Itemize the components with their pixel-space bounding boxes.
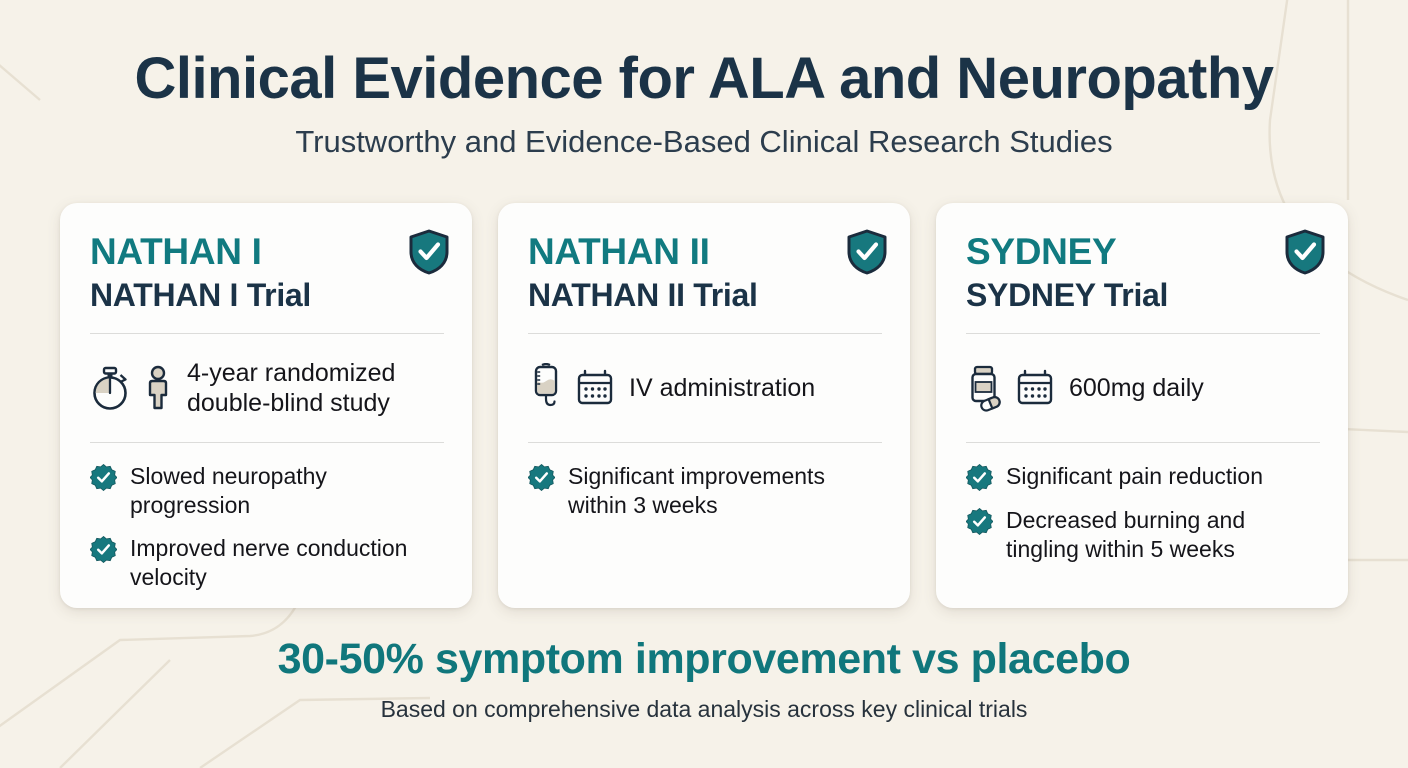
trial-card-nathan-ii[interactable]: NATHAN II NATHAN II Trial <box>498 203 910 608</box>
card-meta: 4-year randomized double-blind study <box>90 334 444 425</box>
trial-card-sydney[interactable]: SYDNEY SYDNEY Trial <box>936 203 1348 608</box>
card-eyebrow: NATHAN II <box>528 233 882 271</box>
shield-check-icon <box>408 229 450 275</box>
page-title: Clinical Evidence for ALA and Neuropathy <box>0 48 1408 109</box>
footer: 30-50% symptom improvement vs placebo Ba… <box>0 636 1408 724</box>
bullet-item: Slowed neuropathy progression <box>90 462 444 519</box>
check-badge-icon <box>966 508 993 535</box>
footer-subtext: Based on comprehensive data analysis acr… <box>0 696 1408 724</box>
card-meta: 600mg daily <box>966 334 1320 425</box>
meta-text: IV administration <box>629 373 815 404</box>
footer-headline: 30-50% symptom improvement vs placebo <box>0 636 1408 683</box>
check-badge-icon <box>90 536 117 563</box>
bullet-item: Improved nerve conduction velocity <box>90 534 444 591</box>
bullet-item: Significant pain reduction <box>966 462 1320 491</box>
card-meta: IV administration <box>528 334 882 425</box>
meta-text: 600mg daily <box>1069 373 1204 404</box>
bullet-text: Decreased burning and tingling within 5 … <box>1006 506 1320 563</box>
calendar-icon <box>1015 368 1055 408</box>
header: Clinical Evidence for ALA and Neuropathy… <box>0 48 1408 161</box>
card-title: NATHAN I Trial <box>90 278 444 313</box>
card-bullets: Slowed neuropathy progression Improved n… <box>90 443 444 591</box>
iv-bag-icon <box>528 363 564 413</box>
page-subtitle: Trustworthy and Evidence-Based Clinical … <box>0 123 1408 160</box>
check-badge-icon <box>90 464 117 491</box>
check-badge-icon <box>966 464 993 491</box>
card-bullets: Significant pain reduction Decreased bur… <box>966 443 1320 563</box>
card-title: SYDNEY Trial <box>966 278 1320 313</box>
card-eyebrow: NATHAN I <box>90 233 444 271</box>
trial-card-nathan-i[interactable]: NATHAN I NATHAN I Trial <box>60 203 472 608</box>
bullet-text: Improved nerve conduction velocity <box>130 534 444 591</box>
infographic-canvas: Clinical Evidence for ALA and Neuropathy… <box>0 0 1408 768</box>
card-eyebrow: SYDNEY <box>966 233 1320 271</box>
bullet-item: Significant improvements within 3 weeks <box>528 462 882 519</box>
person-icon <box>143 365 173 411</box>
meta-icon-group <box>528 363 615 413</box>
bullet-item: Decreased burning and tingling within 5 … <box>966 506 1320 563</box>
meta-icon-group <box>90 365 173 411</box>
bullet-text: Slowed neuropathy progression <box>130 462 444 519</box>
check-badge-icon <box>528 464 555 491</box>
card-bullets: Significant improvements within 3 weeks <box>528 443 882 519</box>
shield-check-icon <box>846 229 888 275</box>
pill-bottle-icon <box>966 364 1004 412</box>
card-title: NATHAN II Trial <box>528 278 882 313</box>
bullet-text: Significant pain reduction <box>1006 462 1263 491</box>
bullet-text: Significant improvements within 3 weeks <box>568 462 882 519</box>
meta-icon-group <box>966 364 1055 412</box>
meta-text: 4-year randomized double-blind study <box>187 358 444 419</box>
shield-check-icon <box>1284 229 1326 275</box>
trial-card-list: NATHAN I NATHAN I Trial <box>60 203 1348 608</box>
stopwatch-icon <box>90 365 132 411</box>
calendar-icon <box>575 368 615 408</box>
